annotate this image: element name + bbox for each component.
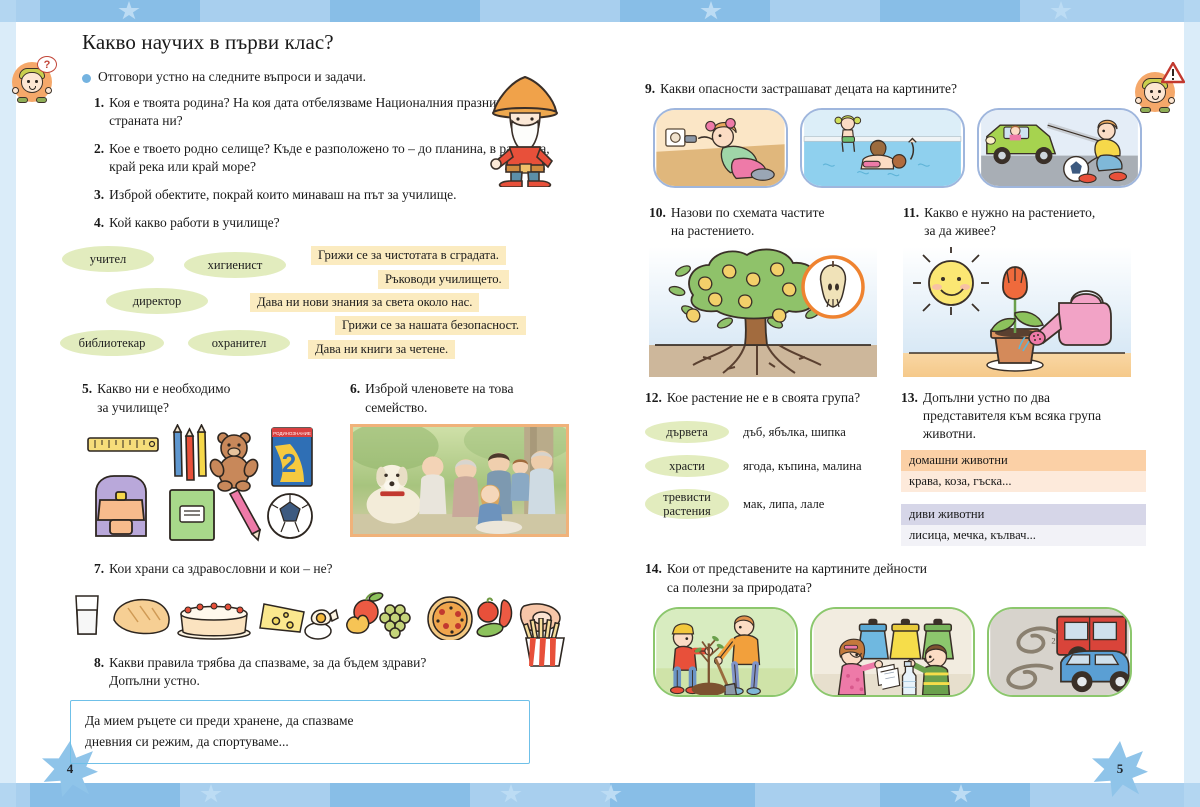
duty-strip-books[interactable]: Дава ни книги за четене. <box>308 340 455 359</box>
job-chip-guard[interactable]: охранител <box>188 330 290 356</box>
question-10-line1: Назови по схемата частите <box>671 205 825 220</box>
plant-group-examples-herbs: мак, липа, лале <box>743 497 824 512</box>
page-title: Какво научих в първи клас? <box>82 30 565 55</box>
question-3: 3. Изброй обектите, покрай които минаваш… <box>94 186 565 204</box>
question-12: 12. Кое растение не е в своята група? <box>645 389 885 407</box>
question-1-number: 1. <box>94 94 104 130</box>
duty-strip-knowledge[interactable]: Дава ни нови знания за света около нас. <box>250 293 479 312</box>
question-8-line1: Какви правила трябва да спазваме, за да … <box>109 655 426 670</box>
question-5-line1: Какво ни е необходимо <box>97 381 230 396</box>
question-7: 7. Кои храни са здравословни и кои – не? <box>94 560 565 578</box>
question-6-number: 6. <box>350 380 360 416</box>
danger-scene-water <box>800 108 965 188</box>
plant-group-row-trees: дървета дъб, ябълка, шипка <box>645 421 885 443</box>
question-12-number: 12. <box>645 389 662 407</box>
question-9-text: Какви опасности застрашават децата на ка… <box>660 80 957 98</box>
star-icon <box>200 784 222 804</box>
question-9: 9. Какви опасности застрашават децата на… <box>645 80 1150 98</box>
question-6: 6. Изброй членовете на това семейство. <box>350 380 569 416</box>
question-14-line2: са полезни за природата? <box>667 580 812 595</box>
question-5-line2: за училище? <box>97 400 169 415</box>
top-decorative-band <box>0 0 1200 22</box>
question-6-line2: семейство. <box>365 400 427 415</box>
family-portrait-photo <box>350 424 569 537</box>
question-6-line1: Изброй членовете на това <box>365 381 513 396</box>
question-5-number: 5. <box>82 380 92 416</box>
question-7-text: Кои храни са здравословни и кои – не? <box>109 560 332 578</box>
question-3-number: 3. <box>94 186 104 204</box>
job-chip-teacher[interactable]: учител <box>62 246 154 272</box>
note-line-1: Да мием ръцете си преди хранене, да спаз… <box>85 711 515 732</box>
question-5: 5. Какво ни е необходимо за училище? <box>82 380 320 416</box>
plant-group-chip-trees[interactable]: дървета <box>645 421 729 443</box>
question-12-text: Кое растение не е в своята група? <box>667 389 860 407</box>
question-3-text: Изброй обектите, покрай които минаваш на… <box>109 186 456 204</box>
textbook-spread: 4 5 Какво научих в първи клас? ? <box>0 0 1200 807</box>
plant-group-examples-shrubs: ягода, къпина, малина <box>743 459 862 474</box>
question-9-number: 9. <box>645 80 655 98</box>
boy-question-icon: ? <box>12 62 52 102</box>
nature-scene-planting <box>653 607 798 697</box>
question-11-line1: Какво е нужно на растението, <box>924 205 1095 220</box>
duty-strip-safety[interactable]: Грижи се за нашата безопасност. <box>335 316 526 335</box>
right-page-column: 9. Какви опасности застрашават децата на… <box>645 24 1150 697</box>
question-14-number: 14. <box>645 560 662 596</box>
answer-note-box: Да мием ръцете си преди хранене, да спаз… <box>70 700 530 764</box>
question-11: 11. Какво е нужно на растението, за да ж… <box>903 204 1133 240</box>
nature-scene-recycling <box>810 607 975 697</box>
duty-strip-manage[interactable]: Ръководи училището. <box>378 270 509 289</box>
sun-flowerpot-wateringcan-scene <box>903 247 1131 377</box>
animal-group-examples-wild[interactable]: лисица, мечка, кълвач... <box>901 525 1146 546</box>
star-icon <box>1050 1 1072 21</box>
job-chip-director[interactable]: директор <box>106 288 208 314</box>
question-10-line2: на растението. <box>671 223 755 238</box>
nature-scene-pollution: 2 <box>987 607 1132 697</box>
gnome-icon <box>480 69 570 187</box>
question-13-line2: представителя към всяка група <box>923 408 1101 423</box>
right-decorative-strip <box>1184 0 1200 807</box>
animal-group-examples-domestic[interactable]: крава, коза, гъска... <box>901 471 1146 492</box>
question-4-text: Кой какво работи в училище? <box>109 214 280 232</box>
question-11-number: 11. <box>903 204 919 240</box>
plant-group-row-herbs: тревисти растения мак, липа, лале <box>645 489 885 519</box>
question-13: 13. Допълни устно по два представителя к… <box>901 389 1146 443</box>
plant-group-examples-trees: дъб, ябълка, шипка <box>743 425 846 440</box>
question-14-line1: Кои от представените на картините дейнос… <box>667 561 927 576</box>
question-13-line3: животни. <box>923 426 976 441</box>
svg-text:РОДИНОЗНАНИЕ: РОДИНОЗНАНИЕ <box>273 431 311 436</box>
question-7-number: 7. <box>94 560 104 578</box>
star-icon <box>500 784 522 804</box>
plant-group-chip-herbs[interactable]: тревисти растения <box>645 489 729 519</box>
plant-group-chip-shrubs[interactable]: храсти <box>645 455 729 477</box>
question-2-number: 2. <box>94 140 104 176</box>
question-13-line1: Допълни устно по два <box>923 390 1050 405</box>
question-4-number: 4. <box>94 214 104 232</box>
question-8-line2: Допълни устно. <box>109 673 200 688</box>
left-page-column: Какво научих в първи клас? ? <box>60 24 565 764</box>
danger-scene-road <box>977 108 1142 188</box>
question-10-number: 10. <box>649 204 666 240</box>
animal-group-title-domestic[interactable]: домашни животни <box>901 450 1146 471</box>
pear-tree-with-roots-scene <box>649 247 877 377</box>
plant-group-row-shrubs: храсти ягода, къпина, малина <box>645 455 885 477</box>
school-supplies-illustration: РОДИНОЗНАНИЕ 2 <box>82 424 320 544</box>
question-10: 10. Назови по схемата частите на растени… <box>649 204 879 240</box>
animal-group-title-wild[interactable]: диви животни <box>901 504 1146 525</box>
left-decorative-strip <box>0 0 16 807</box>
job-chip-librarian[interactable]: библиотекар <box>60 330 164 356</box>
boy-warning-icon <box>1135 72 1175 112</box>
note-line-2: дневния си режим, да спортуваме... <box>85 732 515 753</box>
lead-text: Отговори устно на следните въпроси и зад… <box>98 69 366 85</box>
question-8: 8. Какви правила трябва да спазваме, за … <box>94 654 565 690</box>
danger-scene-socket <box>653 108 788 188</box>
duty-strip-cleanliness[interactable]: Грижи се за чистотата в сградата. <box>311 246 506 265</box>
question-mark-icon: ? <box>37 56 57 73</box>
bullet-icon <box>82 74 91 83</box>
jobs-duties-matching: учител хигиенист директор библиотекар ох… <box>60 242 565 362</box>
svg-text:2: 2 <box>1051 635 1055 645</box>
job-chip-cleaner[interactable]: хигиенист <box>184 252 286 278</box>
foods-illustration-row <box>68 588 568 640</box>
question-11-line2: за да живее? <box>924 223 996 238</box>
svg-text:2: 2 <box>282 448 296 478</box>
warning-triangle-icon <box>1161 62 1185 84</box>
question-14: 14. Кои от представените на картините де… <box>645 560 1150 596</box>
bottom-decorative-band <box>0 783 1200 807</box>
fries-icon <box>520 618 570 668</box>
question-8-number: 8. <box>94 654 104 690</box>
question-4: 4. Кой какво работи в училище? <box>94 214 565 232</box>
question-13-number: 13. <box>901 389 918 443</box>
